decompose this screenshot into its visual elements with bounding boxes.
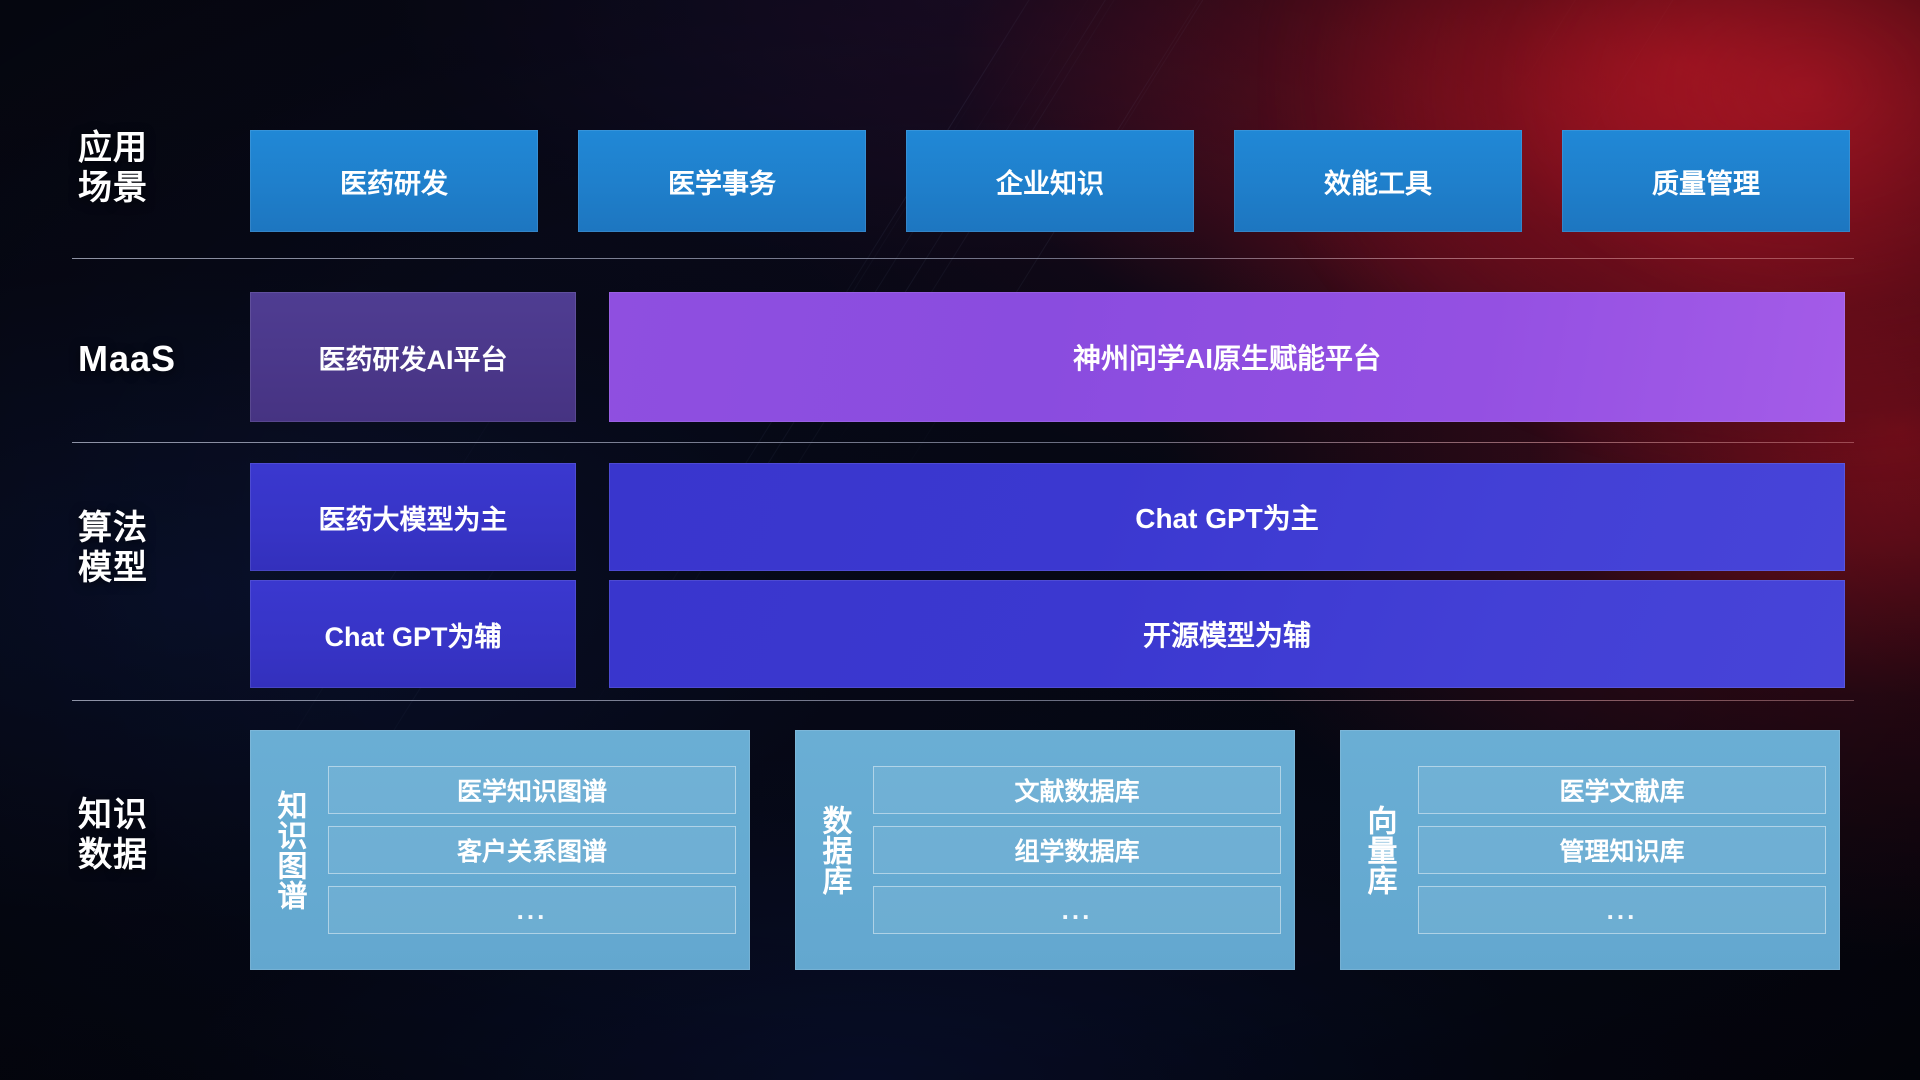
divider-2: [72, 442, 1854, 443]
app-box-2[interactable]: 企业知识: [906, 130, 1194, 232]
knowledge-group-vector-label: 向量库: [1340, 746, 1418, 954]
app-box-0[interactable]: 医药研发: [250, 130, 538, 232]
row-label-maas: MaaS: [78, 338, 228, 380]
divider-3: [72, 700, 1854, 701]
knowledge-group-graph-label: 知识图谱: [250, 746, 328, 954]
knowledge-group-graph-items: 医学知识图谱 客户关系图谱 ...: [328, 766, 736, 934]
row-label-application-line1: 应用: [78, 128, 228, 168]
algorithm-row-secondary: Chat GPT为辅 开源模型为辅: [250, 580, 1845, 688]
knowledge-group-vector-items: 医学文献库 管理知识库 ...: [1418, 766, 1826, 934]
knowledge-group-graph: 知识图谱 医学知识图谱 客户关系图谱 ...: [250, 730, 750, 970]
algo-box-opensource-secondary[interactable]: 开源模型为辅: [609, 580, 1845, 688]
knowledge-group-vector: 向量库 医学文献库 管理知识库 ...: [1340, 730, 1840, 970]
divider-1: [72, 258, 1854, 259]
row-label-application: 应用 场景: [78, 128, 228, 208]
row-label-application-line2: 场景: [78, 168, 228, 208]
row-label-algorithm-line1: 算法: [78, 508, 228, 548]
knowledge-item-literature-db[interactable]: 文献数据库: [873, 766, 1281, 814]
knowledge-item-vector-more[interactable]: ...: [1418, 886, 1826, 934]
knowledge-item-omics-db[interactable]: 组学数据库: [873, 826, 1281, 874]
knowledge-group-database-label: 数据库: [795, 746, 873, 954]
knowledge-item-medical-literature[interactable]: 医学文献库: [1418, 766, 1826, 814]
knowledge-group-database-items: 文献数据库 组学数据库 ...: [873, 766, 1281, 934]
app-box-4[interactable]: 质量管理: [1562, 130, 1850, 232]
row-label-knowledge-line2: 数据: [78, 835, 228, 875]
app-box-1[interactable]: 医学事务: [578, 130, 866, 232]
knowledge-item-customer-graph[interactable]: 客户关系图谱: [328, 826, 736, 874]
maas-box-shenzhou-platform[interactable]: 神州问学AI原生赋能平台: [609, 292, 1845, 422]
maas-box-pharma-ai-platform[interactable]: 医药研发AI平台: [250, 292, 576, 422]
row-label-algorithm-line2: 模型: [78, 548, 228, 588]
algo-box-pharma-llm-primary[interactable]: 医药大模型为主: [250, 463, 576, 571]
knowledge-group-database: 数据库 文献数据库 组学数据库 ...: [795, 730, 1295, 970]
app-box-3[interactable]: 效能工具: [1234, 130, 1522, 232]
algorithm-row-primary: 医药大模型为主 Chat GPT为主: [250, 463, 1845, 571]
row-label-algorithm: 算法 模型: [78, 508, 228, 588]
maas-row: 医药研发AI平台 神州问学AI原生赋能平台: [250, 292, 1845, 422]
knowledge-item-graph-more[interactable]: ...: [328, 886, 736, 934]
knowledge-item-management-knowledge[interactable]: 管理知识库: [1418, 826, 1826, 874]
algo-box-chatgpt-primary[interactable]: Chat GPT为主: [609, 463, 1845, 571]
row-label-knowledge: 知识 数据: [78, 795, 228, 875]
row-label-maas-line1: MaaS: [78, 338, 228, 380]
algo-box-chatgpt-secondary[interactable]: Chat GPT为辅: [250, 580, 576, 688]
knowledge-item-database-more[interactable]: ...: [873, 886, 1281, 934]
row-label-knowledge-line1: 知识: [78, 795, 228, 835]
application-row: 医药研发 医学事务 企业知识 效能工具 质量管理: [250, 130, 1850, 232]
knowledge-item-medical-graph[interactable]: 医学知识图谱: [328, 766, 736, 814]
architecture-diagram: 应用 场景 医药研发 医学事务 企业知识 效能工具 质量管理 MaaS 医药研发…: [0, 0, 1920, 1080]
